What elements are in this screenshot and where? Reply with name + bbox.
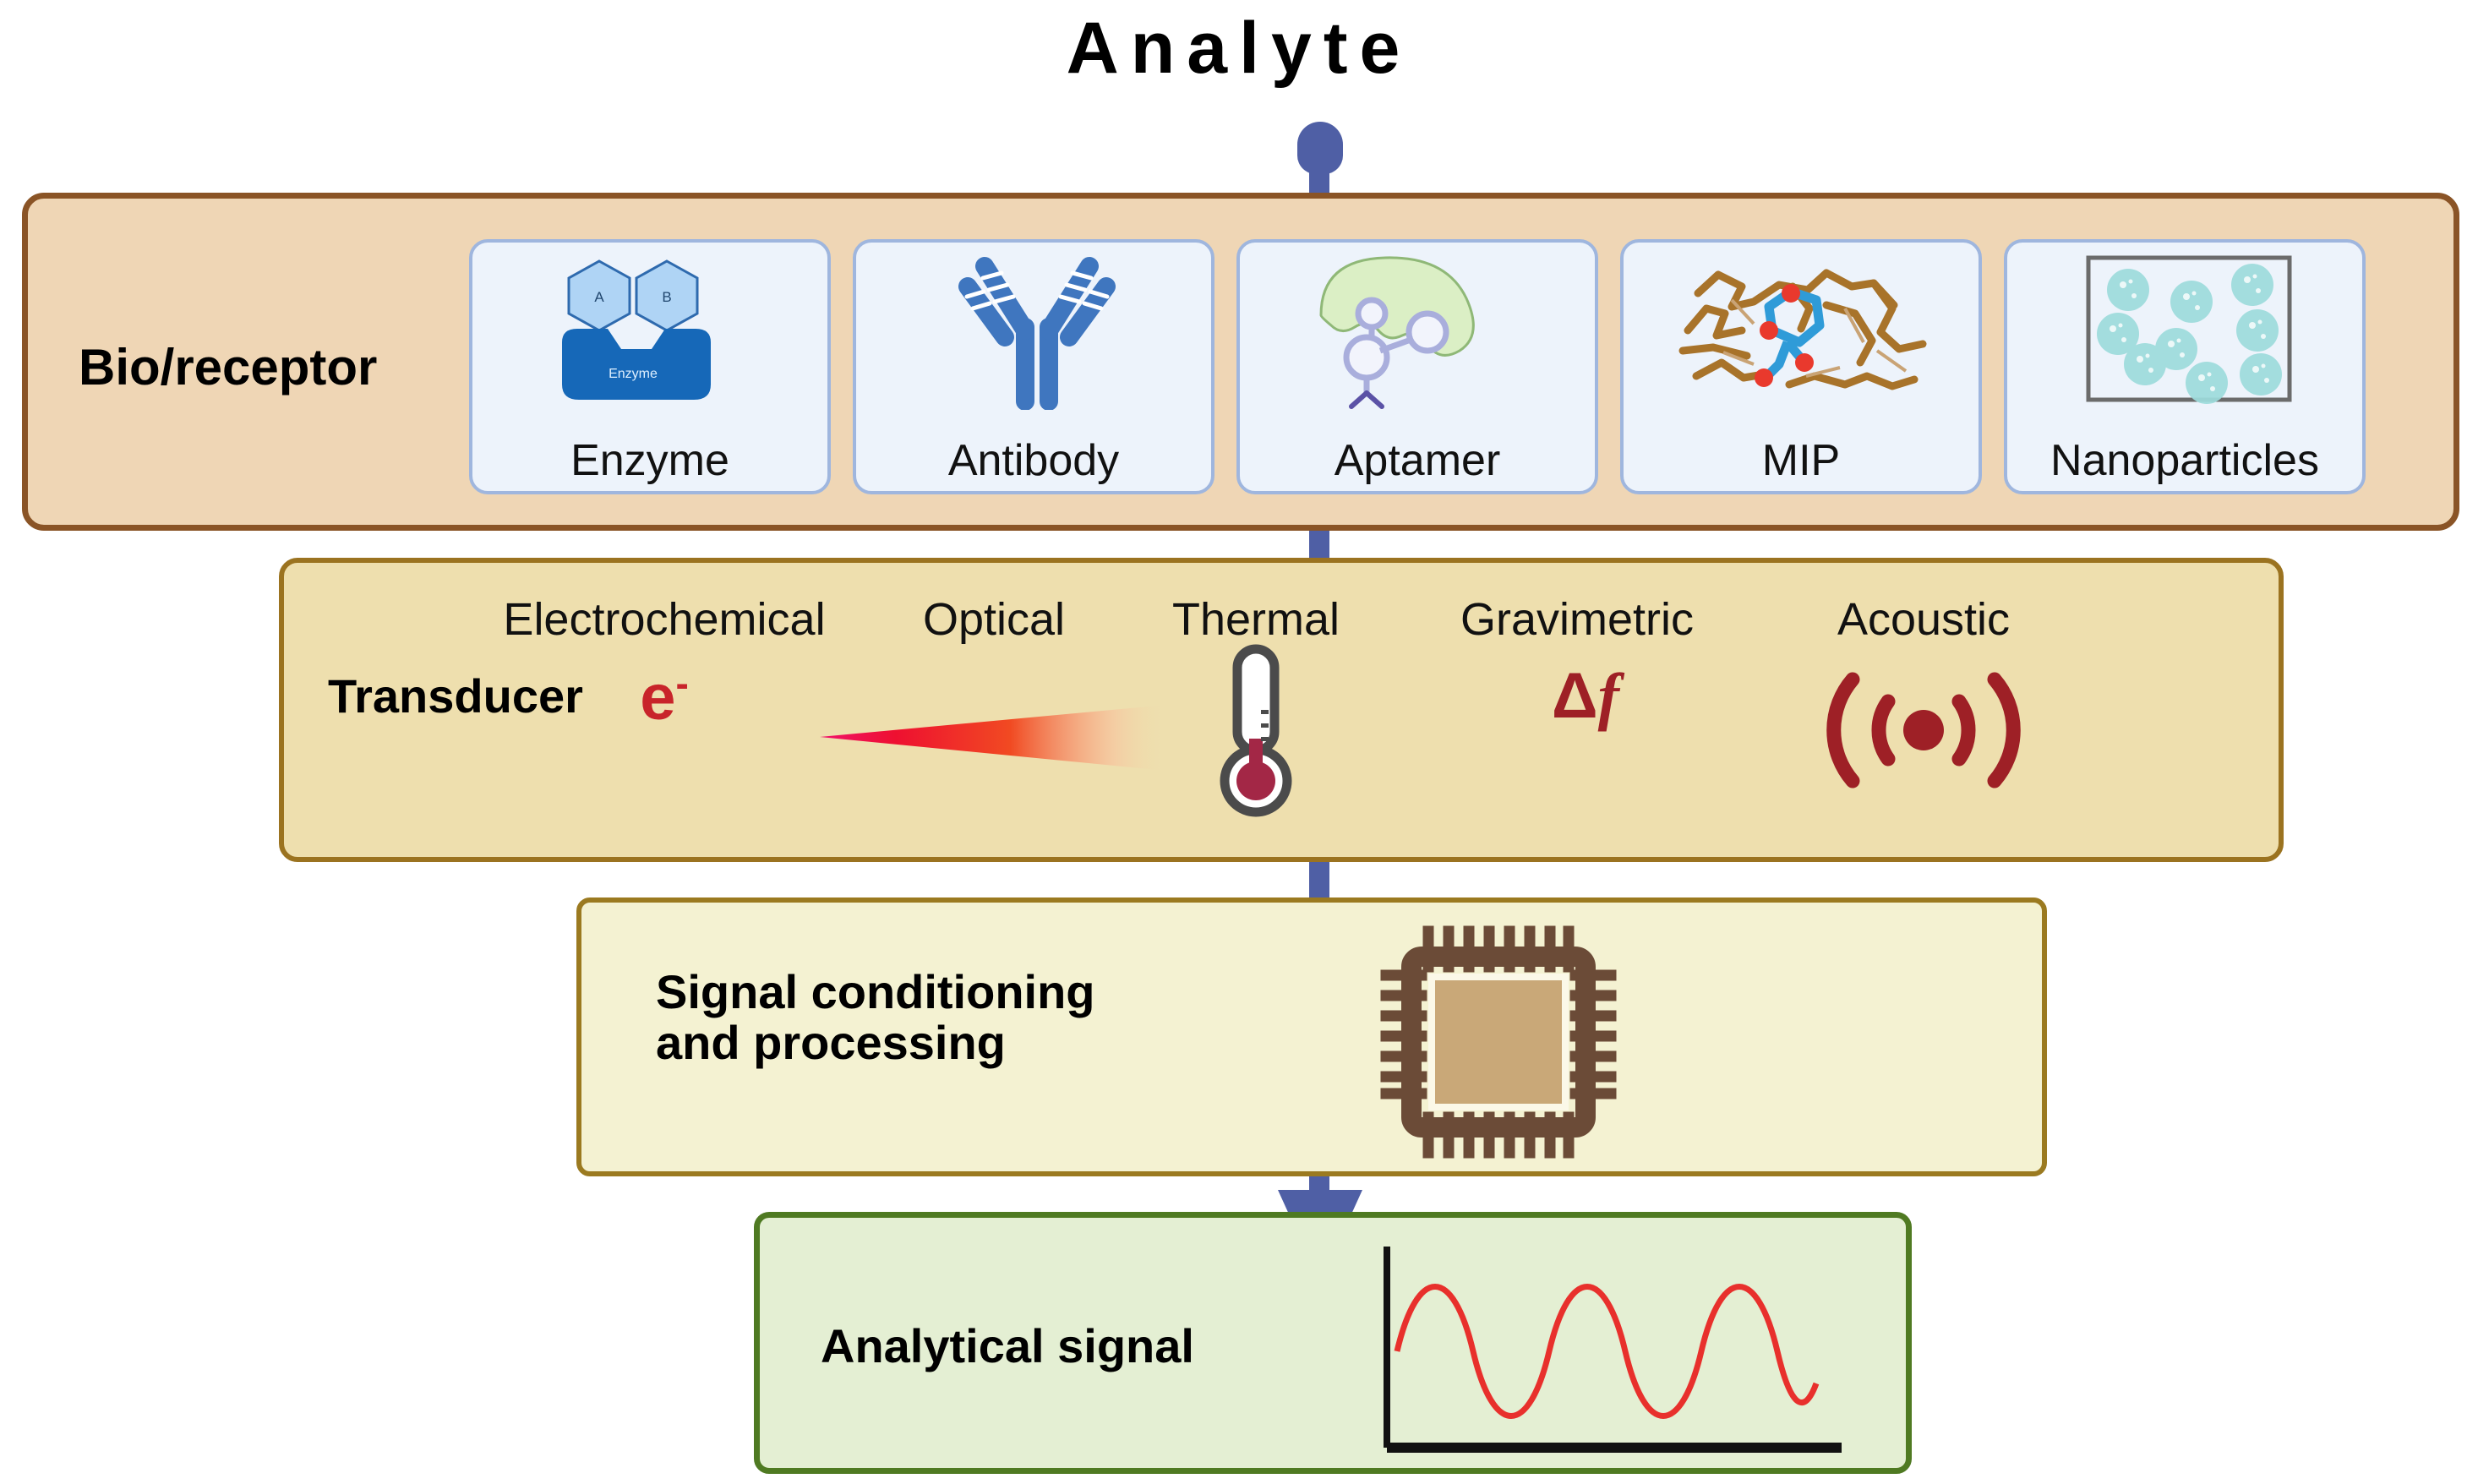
- svg-text:B: B: [662, 289, 671, 305]
- aptamer-icon: [1240, 249, 1595, 410]
- receptor-card-enzyme[interactable]: A B Enzyme Enzyme: [469, 239, 831, 494]
- transducer-mode-thermal[interactable]: Thermal: [1112, 593, 1400, 646]
- bioreceptor-panel: Bio/receptor A B Enzyme Enzyme: [22, 193, 2459, 531]
- transducer-mode-acoustic[interactable]: Acoustic: [1755, 593, 2093, 646]
- acoustic-wave-icon: [1771, 654, 2076, 810]
- nanoparticles-icon: [2007, 249, 2362, 410]
- analytical-signal-panel: Analytical signal: [754, 1212, 1912, 1474]
- svg-text:A: A: [594, 289, 604, 305]
- enzyme-icon: A B Enzyme: [472, 249, 827, 410]
- receptor-card-nanoparticles[interactable]: Nanoparticles: [2004, 239, 2366, 494]
- signal-processing-panel: Signal conditioning and processing: [576, 897, 2047, 1176]
- transducer-mode-electrochemical[interactable]: Electrochemical: [453, 593, 876, 646]
- svg-text:Enzyme: Enzyme: [609, 367, 658, 381]
- receptor-label-antibody: Antibody: [836, 435, 1231, 486]
- page-title: Analyte: [0, 12, 2478, 85]
- bioreceptor-label: Bio/receptor: [79, 341, 377, 396]
- laser-beam-icon: [808, 690, 1180, 787]
- microchip-icon: [1376, 919, 1621, 1169]
- antibody-icon: [856, 249, 1211, 410]
- biosensor-diagram: Analyte Bio/receptor A B Enzyme Enzyme: [0, 0, 2478, 1484]
- signal-processing-label: Signal conditioning and processing: [656, 967, 1095, 1069]
- mip-icon: [1624, 249, 1979, 410]
- transducer-panel: Transducer Electrochemical Optical Therm…: [279, 558, 2284, 862]
- receptor-label-nanoparticles: Nanoparticles: [1987, 435, 2382, 486]
- receptor-card-antibody[interactable]: Antibody: [853, 239, 1214, 494]
- receptor-card-aptamer[interactable]: Aptamer: [1236, 239, 1598, 494]
- receptor-label-enzyme: Enzyme: [452, 435, 848, 486]
- transducer-mode-optical[interactable]: Optical: [859, 593, 1129, 646]
- sine-wave-plot: [1368, 1241, 1875, 1472]
- receptor-label-aptamer: Aptamer: [1220, 435, 1615, 486]
- transducer-mode-gravimetric[interactable]: Gravimetric: [1400, 593, 1755, 646]
- electron-symbol: e-: [529, 664, 800, 730]
- receptor-label-mip: MIP: [1603, 435, 1999, 486]
- delta-f-symbol: Δf: [1442, 664, 1729, 728]
- receptor-card-mip[interactable]: MIP: [1620, 239, 1982, 494]
- thermometer-icon: [1154, 644, 1357, 826]
- analytical-signal-label: Analytical signal: [821, 1321, 1194, 1372]
